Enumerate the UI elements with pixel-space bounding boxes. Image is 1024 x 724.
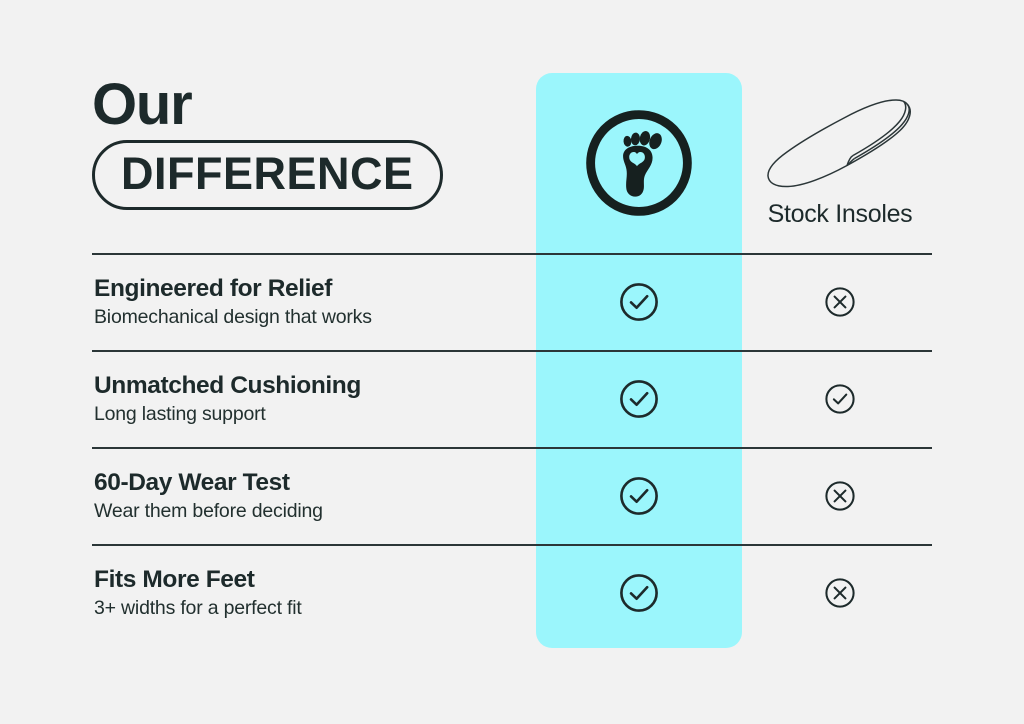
circle-check-icon: [617, 377, 661, 421]
difference-comparison-chart: Our DIFFERENCE: [0, 0, 1024, 724]
footprint-heart-logo: [580, 104, 698, 222]
circle-check-icon: [617, 474, 661, 518]
circle-check-icon: [823, 382, 857, 416]
row-text-cell: Unmatched CushioningLong lasting support: [94, 371, 514, 427]
stock-mark-cell: [742, 447, 938, 544]
brand-mark-cell: [536, 544, 742, 641]
circle-cross-icon: [823, 285, 857, 319]
row-divider: [92, 447, 932, 449]
page-title: Our DIFFERENCE: [92, 74, 492, 210]
brand-mark-cell: [536, 253, 742, 350]
row-title: Unmatched Cushioning: [94, 371, 514, 400]
row-divider: [92, 253, 932, 255]
row-divider: [92, 544, 932, 546]
table-row: 60-Day Wear TestWear them before decidin…: [0, 447, 1024, 544]
insole-outline-icon: [755, 88, 925, 198]
row-subtitle: 3+ widths for a perfect fit: [94, 596, 514, 621]
stock-mark-cell: [742, 350, 938, 447]
brand-mark-cell: [536, 350, 742, 447]
circle-check-icon: [617, 571, 661, 615]
row-text-cell: 60-Day Wear TestWear them before decidin…: [94, 468, 514, 524]
title-pill-difference: DIFFERENCE: [92, 140, 443, 210]
title-line-our: Our: [92, 74, 492, 136]
table-row: Engineered for ReliefBiomechanical desig…: [0, 253, 1024, 350]
row-subtitle: Biomechanical design that works: [94, 305, 514, 330]
stock-insoles-label: Stock Insoles: [768, 200, 913, 229]
table-row: Fits More Feet3+ widths for a perfect fi…: [0, 544, 1024, 641]
brand-mark-cell: [536, 447, 742, 544]
row-title: 60-Day Wear Test: [94, 468, 514, 497]
row-title: Engineered for Relief: [94, 274, 514, 303]
stock-mark-cell: [742, 544, 938, 641]
circle-check-icon: [617, 280, 661, 324]
stock-insoles-header-cell: Stock Insoles: [742, 88, 938, 248]
row-text-cell: Fits More Feet3+ widths for a perfect fi…: [94, 565, 514, 621]
chart-header: Our DIFFERENCE: [0, 0, 1024, 253]
brand-logo-cell: [536, 88, 742, 238]
row-subtitle: Wear them before deciding: [94, 499, 514, 524]
row-divider: [92, 350, 932, 352]
row-title: Fits More Feet: [94, 565, 514, 594]
table-row: Unmatched CushioningLong lasting support: [0, 350, 1024, 447]
row-text-cell: Engineered for ReliefBiomechanical desig…: [94, 274, 514, 330]
circle-cross-icon: [823, 576, 857, 610]
circle-cross-icon: [823, 479, 857, 513]
stock-mark-cell: [742, 253, 938, 350]
row-subtitle: Long lasting support: [94, 402, 514, 427]
